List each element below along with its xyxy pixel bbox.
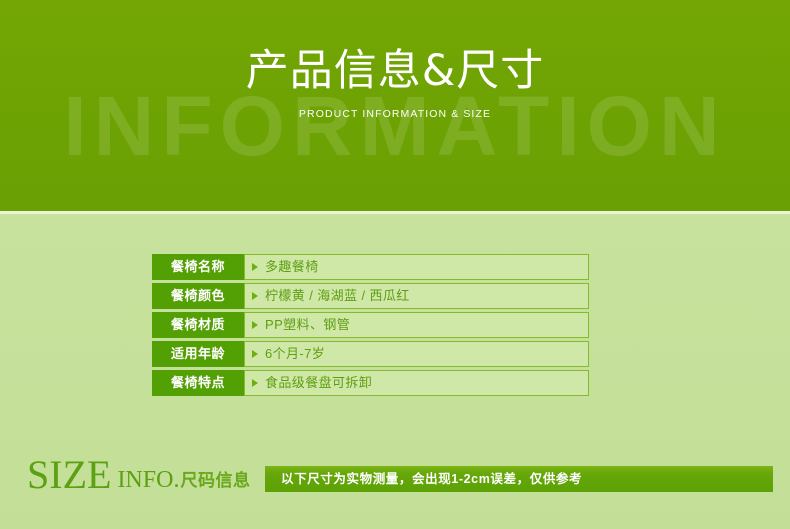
spec-value-cell: PP塑料、钢管 [244, 312, 589, 338]
table-row: 适用年龄 6个月-7岁 [152, 341, 589, 367]
size-word: SIZE [27, 455, 111, 495]
spec-value-text: 食品级餐盘可拆卸 [265, 371, 372, 395]
spec-value-text: 多趣餐椅 [265, 255, 319, 279]
arrow-right-icon [252, 292, 258, 300]
info-word: INFO. [117, 465, 179, 495]
spec-table: 餐椅名称 多趣餐椅 餐椅颜色 柠檬黄 / 海湖蓝 / 西瓜红 餐椅材质 PP塑料… [152, 254, 589, 399]
spec-label: 餐椅材质 [152, 312, 244, 338]
spec-label: 适用年龄 [152, 341, 244, 367]
size-info-heading: SIZE INFO. 尺码信息 [27, 455, 250, 495]
spec-value-cell: 食品级餐盘可拆卸 [244, 370, 589, 396]
arrow-right-icon [252, 263, 258, 271]
arrow-right-icon [252, 350, 258, 358]
arrow-right-icon [252, 321, 258, 329]
header-divider [0, 211, 790, 214]
spec-value-cell: 多趣餐椅 [244, 254, 589, 280]
spec-value-text: 柠檬黄 / 海湖蓝 / 西瓜红 [265, 284, 410, 308]
product-info-page: INFORMATION 产品信息&尺寸 PRODUCT INFORMATION … [0, 0, 790, 529]
spec-label: 餐椅特点 [152, 370, 244, 396]
size-info-cn-label: 尺码信息 [180, 467, 250, 495]
measurement-note-banner: 以下尺寸为实物测量，会出现1-2cm误差，仅供参考 [265, 466, 773, 492]
header-banner: INFORMATION 产品信息&尺寸 PRODUCT INFORMATION … [0, 0, 790, 211]
spec-value-text: PP塑料、钢管 [265, 313, 350, 337]
table-row: 餐椅名称 多趣餐椅 [152, 254, 589, 280]
spec-value-cell: 柠檬黄 / 海湖蓝 / 西瓜红 [244, 283, 589, 309]
page-title: 产品信息&尺寸 [0, 44, 790, 98]
spec-label: 餐椅颜色 [152, 283, 244, 309]
page-subtitle: PRODUCT INFORMATION & SIZE [0, 107, 790, 121]
table-row: 餐椅颜色 柠檬黄 / 海湖蓝 / 西瓜红 [152, 283, 589, 309]
spec-label: 餐椅名称 [152, 254, 244, 280]
measurement-note-text: 以下尺寸为实物测量，会出现1-2cm误差，仅供参考 [265, 466, 582, 492]
arrow-right-icon [252, 379, 258, 387]
spec-value-cell: 6个月-7岁 [244, 341, 589, 367]
spec-value-text: 6个月-7岁 [265, 342, 325, 366]
table-row: 餐椅特点 食品级餐盘可拆卸 [152, 370, 589, 396]
table-row: 餐椅材质 PP塑料、钢管 [152, 312, 589, 338]
